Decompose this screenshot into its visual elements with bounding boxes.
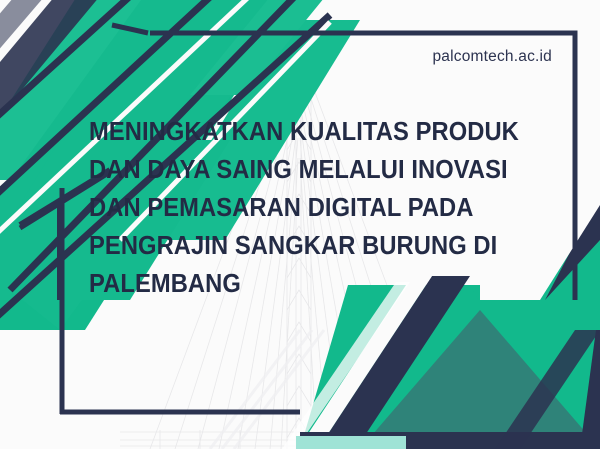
right-edge-green-flag (520, 188, 600, 330)
title-line-3: DAN PEMASARAN DIGITAL PADA (89, 189, 489, 227)
title-line-2: DAN DAYA SAING MELALUI INOVASI (89, 151, 489, 189)
poster-canvas: palcomtech.ac.id MENINGKATKAN KUALITAS P… (0, 0, 600, 449)
poster-title: MENINGKATKAN KUALITAS PRODUK DAN DAYA SA… (89, 113, 519, 303)
title-line-1: MENINGKATKAN KUALITAS PRODUK (89, 113, 489, 151)
corner-accent-bars (0, 0, 105, 110)
site-url: palcomtech.ac.id (300, 48, 552, 66)
title-line-4: PENGRAJIN SANGKAR BURUNG DI (89, 227, 489, 265)
title-line-5: PALEMBANG (89, 265, 489, 303)
